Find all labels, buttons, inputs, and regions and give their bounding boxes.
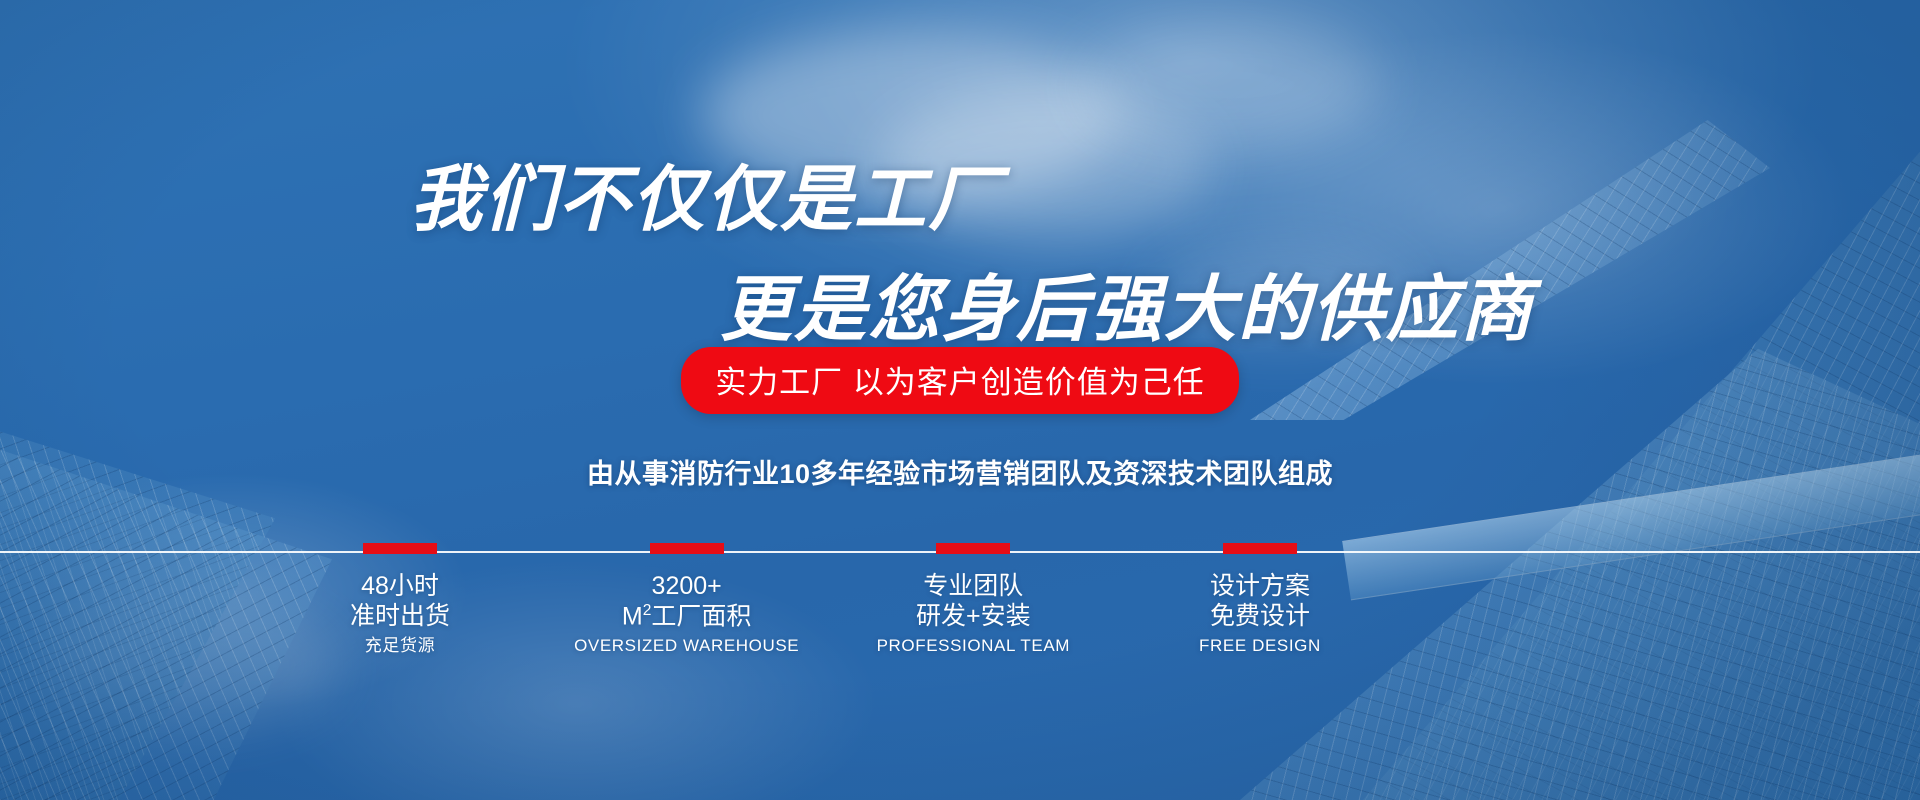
stat-item-delivery[interactable]: 48小时 准时出货 充足货源 — [270, 520, 530, 659]
red-tab-icon — [650, 543, 724, 554]
hero-banner: 我们不仅仅是工厂 更是您身后强大的供应商 实力工厂 以为客户创造价值为己任 由从… — [0, 0, 1920, 800]
stat-unit-suffix: 工厂面积 — [651, 602, 751, 630]
red-tab-icon — [363, 543, 437, 554]
stat-line-3: OVERSIZED WAREHOUSE — [557, 633, 817, 659]
stat-line-1: 设计方案 — [1130, 572, 1390, 602]
banner-subtitle: 由从事消防行业10多年经验市场营销团队及资深技术团队组成 — [587, 452, 1333, 491]
stat-item-team[interactable]: 专业团队 研发+安装 PROFESSIONAL TEAM — [843, 520, 1103, 659]
stat-line-2: 研发+安装 — [843, 602, 1103, 632]
stat-line-1: 专业团队 — [843, 572, 1103, 602]
stat-line-2: 准时出货 — [270, 602, 530, 632]
red-tab-icon — [1223, 543, 1297, 554]
badge-row: 实力工厂 以为客户创造价值为己任 — [0, 347, 1920, 414]
slogan-badge[interactable]: 实力工厂 以为客户创造价值为己任 — [681, 347, 1239, 414]
stat-line-3: PROFESSIONAL TEAM — [843, 633, 1103, 659]
stat-line-1: 3200+ — [557, 572, 817, 602]
stat-line-1: 48小时 — [270, 572, 530, 602]
headline-line-1: 我们不仅仅是工厂 — [410, 140, 1002, 245]
stats-row: 48小时 准时出货 充足货源 3200+ M2工厂面积 OVERSIZED WA… — [270, 520, 1390, 659]
stat-line-3: FREE DESIGN — [1130, 633, 1390, 659]
stat-line-2: M2工厂面积 — [557, 602, 817, 632]
subtitle-row: 由从事消防行业10多年经验市场营销团队及资深技术团队组成 — [0, 452, 1920, 491]
stat-line-3: 充足货源 — [270, 633, 530, 659]
headline-line-2: 更是您身后强大的供应商 — [720, 250, 1534, 355]
red-tab-icon — [936, 543, 1010, 554]
stat-unit-prefix: M — [622, 602, 643, 630]
stat-item-warehouse[interactable]: 3200+ M2工厂面积 OVERSIZED WAREHOUSE — [557, 520, 817, 659]
banner-content: 我们不仅仅是工厂 更是您身后强大的供应商 实力工厂 以为客户创造价值为己任 由从… — [0, 0, 1920, 800]
stat-line-2: 免费设计 — [1130, 602, 1390, 632]
stat-item-design[interactable]: 设计方案 免费设计 FREE DESIGN — [1130, 520, 1390, 659]
